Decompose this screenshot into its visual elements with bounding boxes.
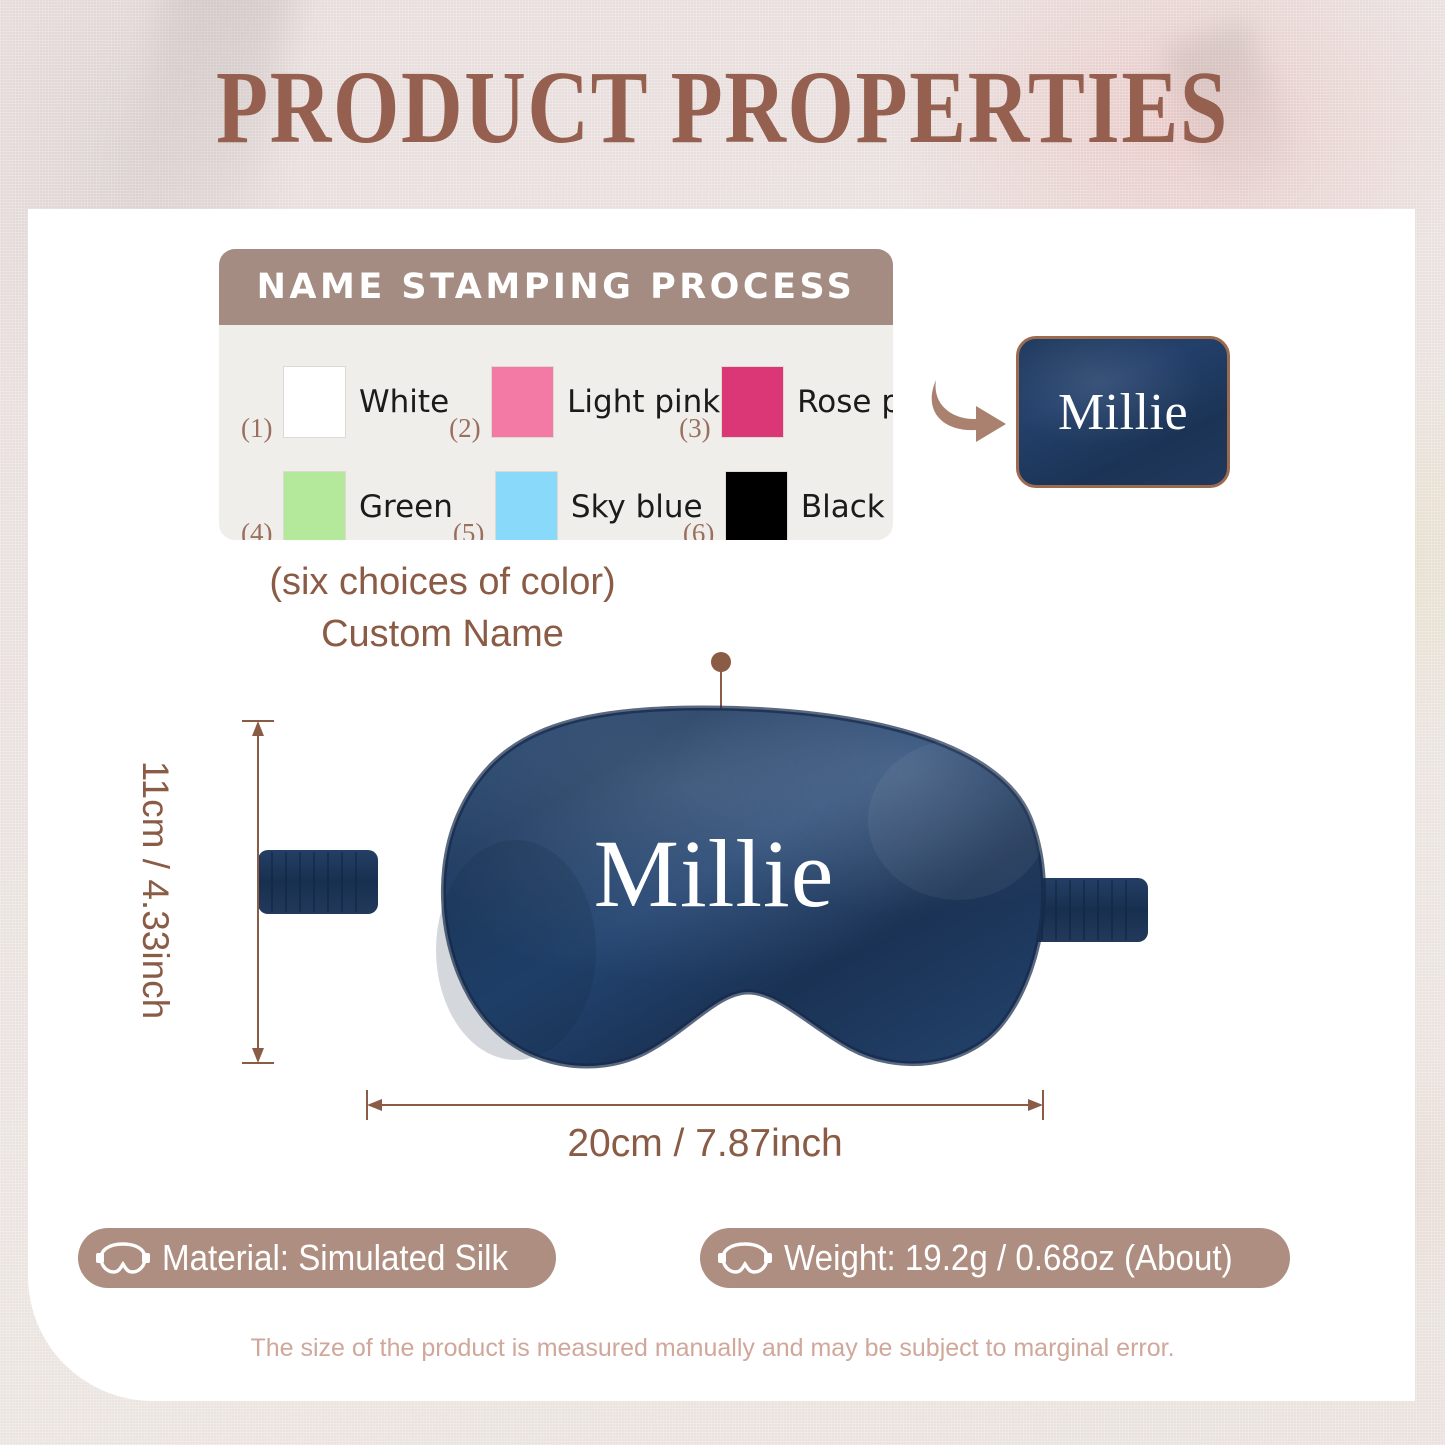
color-option-light-pink[interactable]: (2) Light pink <box>449 349 679 454</box>
color-swatch-white[interactable] <box>283 366 346 438</box>
color-label-rose-pink: Rose pink <box>797 384 893 420</box>
badge-weight-text: Weight: 19.2g / 0.68oz (About) <box>784 1237 1233 1279</box>
dimension-guide-vertical <box>238 718 278 1066</box>
mask-body <box>436 708 1048 1066</box>
page-title: PRODUCT PROPERTIES <box>130 56 1315 160</box>
name-tag-preview: Millie <box>1016 336 1230 488</box>
footer-disclaimer: The size of the product is measured manu… <box>0 1334 1445 1363</box>
color-swatch-row: (4) Green (5) Sky blue (6) Black <box>241 454 873 540</box>
color-swatch-sky-blue[interactable] <box>495 471 558 541</box>
caption-color-choices: (six choices of color) <box>0 561 1445 604</box>
sleep-mask-icon <box>96 1240 150 1276</box>
dimension-label-height: 11cm / 4.33inch <box>134 740 176 1040</box>
dimension-guide-horizontal <box>364 1088 1046 1122</box>
color-swatch-grid: (1) White (2) Light pink (3) Rose pink (… <box>219 325 893 540</box>
name-stamping-panel: NAME STAMPING PROCESS (1) White (2) Ligh… <box>219 249 893 540</box>
color-index-6: (6) <box>683 518 714 540</box>
color-index-1: (1) <box>241 413 272 444</box>
caption-custom-name: Custom Name <box>0 613 1445 656</box>
color-label-black: Black <box>801 489 885 525</box>
color-swatch-rose-pink[interactable] <box>721 366 784 438</box>
name-tag-text: Millie <box>1058 383 1188 442</box>
badge-weight: Weight: 19.2g / 0.68oz (About) <box>700 1228 1290 1288</box>
badge-material: Material: Simulated Silk <box>78 1228 556 1288</box>
color-option-white[interactable]: (1) White <box>241 349 449 454</box>
sleep-mask-icon <box>718 1240 772 1276</box>
color-index-2: (2) <box>449 413 480 444</box>
dimension-label-width: 20cm / 7.87inch <box>364 1122 1046 1166</box>
color-swatch-row: (1) White (2) Light pink (3) Rose pink <box>241 349 873 454</box>
sleep-mask-illustration <box>258 700 1148 1100</box>
color-swatch-light-pink[interactable] <box>491 366 554 438</box>
curved-arrow-icon <box>918 362 1014 448</box>
color-index-3: (3) <box>679 413 710 444</box>
badge-material-text: Material: Simulated Silk <box>162 1237 508 1279</box>
color-label-white: White <box>359 384 449 420</box>
color-swatch-green[interactable] <box>283 471 346 541</box>
color-index-5: (5) <box>453 518 484 540</box>
color-option-black[interactable]: (6) Black <box>683 454 885 540</box>
color-option-green[interactable]: (4) Green <box>241 454 453 540</box>
color-index-4: (4) <box>241 518 272 540</box>
color-option-sky-blue[interactable]: (5) Sky blue <box>453 454 683 540</box>
name-stamping-title: NAME STAMPING PROCESS <box>257 267 856 307</box>
color-label-green: Green <box>359 489 453 525</box>
color-option-rose-pink[interactable]: (3) Rose pink <box>679 349 893 454</box>
product-sleep-mask: Millie <box>258 700 1148 1100</box>
name-stamping-header: NAME STAMPING PROCESS <box>219 249 893 325</box>
color-swatch-black[interactable] <box>725 471 788 541</box>
